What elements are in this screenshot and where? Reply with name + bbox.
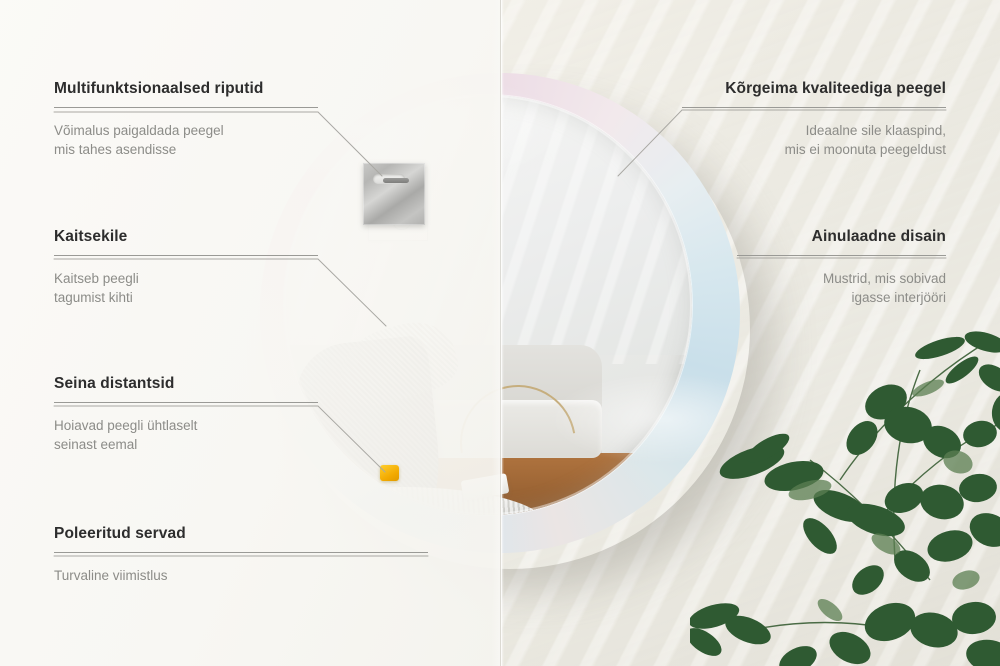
feature-description-line2: seinast eemal	[54, 437, 137, 452]
feature-protective-film: Kaitsekile Kaitseb peeglitagumist kihti	[54, 228, 318, 307]
feature-description-line2: mis ei moonuta peegeldust	[785, 142, 946, 157]
feature-unique-design: Ainulaadne disain Mustrid, mis sobivadig…	[737, 228, 946, 307]
feature-title: Kõrgeima kvaliteediga peegel	[682, 80, 946, 98]
yellow-wall-spacer	[380, 465, 399, 481]
feature-title: Ainulaadne disain	[737, 228, 946, 246]
product-infographic: Multifunktsionaalsed riputid Võimalus pa…	[0, 0, 1000, 666]
feature-description-line2: mis tahes asendisse	[54, 142, 176, 157]
feature-description-line2: igasse interjööri	[851, 290, 946, 305]
feature-rule	[737, 255, 946, 256]
feature-description: Võimalus paigaldada peegelmis tahes asen…	[54, 121, 318, 159]
metal-hanger-plate	[363, 163, 425, 225]
feature-description-line1: Ideaalne sile klaaspind,	[806, 123, 946, 138]
feature-title: Poleeritud servad	[54, 525, 428, 543]
feature-title: Seina distantsid	[54, 375, 318, 393]
feature-description-line2: tagumist kihti	[54, 290, 133, 305]
feature-description-line1: Hoiavad peegli ühtlaselt	[54, 418, 197, 433]
feature-highest-quality-mirror: Kõrgeima kvaliteediga peegel Ideaalne si…	[682, 80, 946, 159]
feature-rule	[54, 255, 318, 256]
feature-description-line1: Kaitseb peegli	[54, 271, 139, 286]
feature-description: Ideaalne sile klaaspind,mis ei moonuta p…	[682, 121, 946, 159]
feature-title: Kaitsekile	[54, 228, 318, 246]
hanger-slot-bar	[383, 178, 409, 183]
feature-polished-edges: Poleeritud servad Turvaline viimistlus	[54, 525, 428, 585]
feature-description: Turvaline viimistlus	[54, 566, 428, 585]
feature-rule	[54, 402, 318, 403]
plant-foliage	[690, 330, 1000, 666]
feature-description: Hoiavad peegli ühtlaseltseinast eemal	[54, 416, 318, 454]
feature-description-line1: Mustrid, mis sobivad	[823, 271, 946, 286]
feature-description-line1: Võimalus paigaldada peegel	[54, 123, 224, 138]
center-divider-highlight	[501, 0, 504, 666]
feature-multifunctional-hangers: Multifunktsionaalsed riputid Võimalus pa…	[54, 80, 318, 159]
feature-description: Mustrid, mis sobivadigasse interjööri	[737, 269, 946, 307]
feature-title: Multifunktsionaalsed riputid	[54, 80, 318, 98]
feature-rule	[682, 107, 946, 108]
feature-description: Kaitseb peeglitagumist kihti	[54, 269, 318, 307]
feature-rule	[54, 552, 428, 553]
feature-wall-spacers: Seina distantsid Hoiavad peegli ühtlasel…	[54, 375, 318, 454]
feature-rule	[54, 107, 318, 108]
